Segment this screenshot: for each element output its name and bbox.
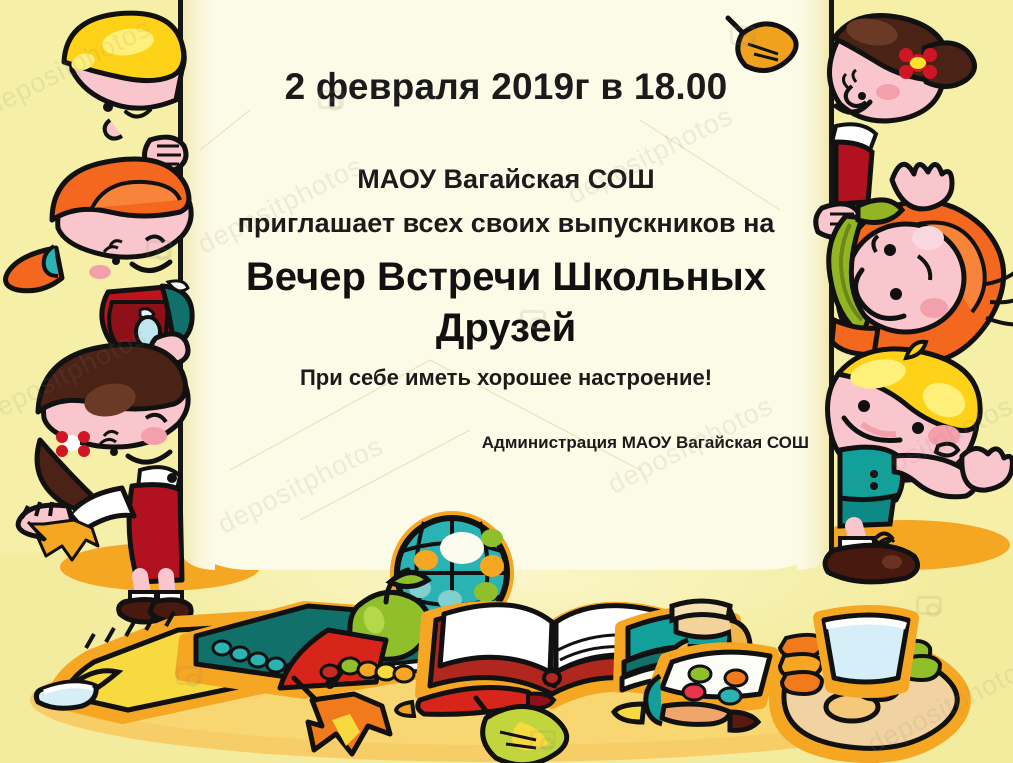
event-headline: Вечер Встречи Школьных Друзей (181, 252, 831, 354)
camera-watermark-icon (146, 240, 172, 259)
camera-watermark-icon (176, 666, 202, 685)
poster-canvas: 2 февраля 2019г в 18.00 МАОУ Вагайская С… (0, 0, 1013, 763)
camera-watermark-icon (916, 596, 942, 615)
camera-watermark-icon (530, 730, 556, 749)
camera-watermark-icon (520, 310, 546, 329)
camera-watermark-icon (318, 90, 344, 109)
camera-watermark-icon (730, 26, 756, 45)
event-date-title: 2 февраля 2019г в 18.00 (181, 66, 831, 108)
event-note: При себе иметь хорошее настроение! (181, 365, 831, 391)
